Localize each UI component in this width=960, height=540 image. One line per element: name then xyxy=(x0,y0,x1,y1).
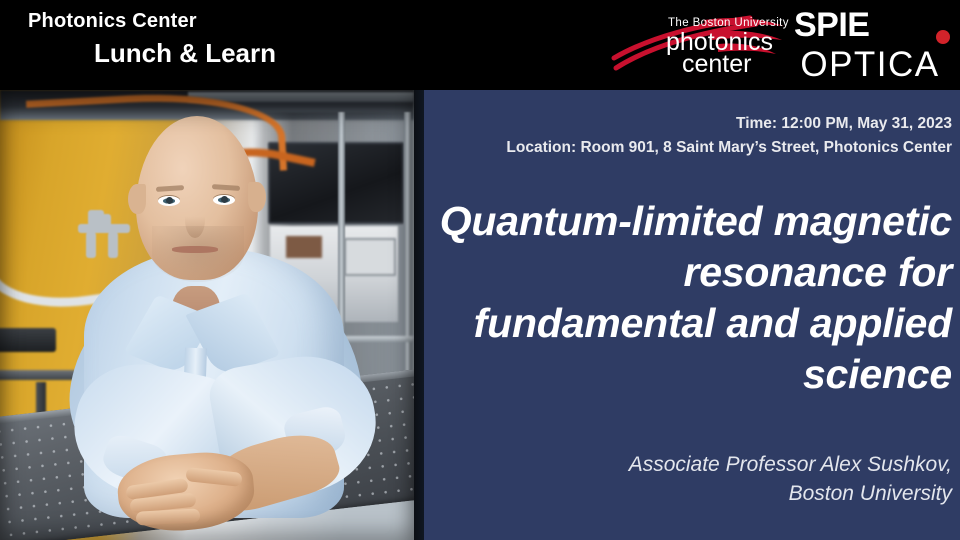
pupil-left xyxy=(166,197,173,204)
spie-logo: SPIE xyxy=(794,6,869,44)
talk-title: Quantum-limited magnetic resonance for f… xyxy=(434,196,952,400)
speaker-name: Associate Professor Alex Sushkov, xyxy=(434,450,952,479)
speaker-photo-inner xyxy=(0,90,414,540)
event-announcement-slide: Photonics Center Lunch & Learn The Bosto… xyxy=(0,0,960,540)
series-title: Lunch & Learn xyxy=(94,36,448,70)
speaker-credit: Associate Professor Alex Sushkov, Boston… xyxy=(434,450,952,508)
optica-logo: OPTICA xyxy=(782,45,958,85)
speaker-figure xyxy=(0,90,414,540)
nose xyxy=(185,202,205,238)
photo-right-edge xyxy=(414,90,424,540)
event-time: Time: 12:00 PM, May 31, 2023 xyxy=(430,112,952,136)
mouth xyxy=(172,246,218,253)
ear-left xyxy=(128,184,146,214)
series-name: Photonics Center xyxy=(28,6,448,36)
slide-header: Photonics Center Lunch & Learn The Bosto… xyxy=(0,0,960,90)
sponsor-logos: SPIE OPTICA xyxy=(782,4,958,88)
event-info-panel: Time: 12:00 PM, May 31, 2023 Location: R… xyxy=(424,90,960,540)
event-location: Location: Room 901, 8 Saint Mary’s Stree… xyxy=(430,136,952,160)
ear-right xyxy=(248,182,266,212)
event-meta: Time: 12:00 PM, May 31, 2023 Location: R… xyxy=(430,112,952,160)
spie-dot-icon xyxy=(936,30,950,44)
pupil-right xyxy=(221,196,228,203)
bu-photonics-logo-artwork: The Boston University photonics center xyxy=(608,2,798,86)
speaker-photo xyxy=(0,90,424,540)
header-title-block: Photonics Center Lunch & Learn xyxy=(28,6,448,70)
bu-photonics-center-logo: The Boston University photonics center xyxy=(608,2,798,86)
speaker-affiliation: Boston University xyxy=(434,479,952,508)
svg-text:center: center xyxy=(682,50,751,78)
